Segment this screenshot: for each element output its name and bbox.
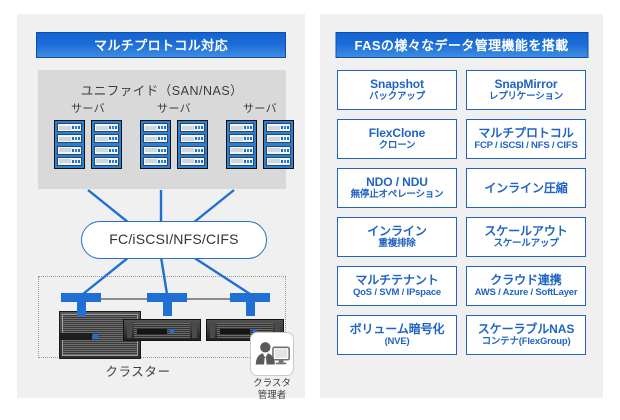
feature-title: クラウド連携 (490, 273, 561, 287)
cluster-admin-caption: クラスタ 管理者 (246, 378, 298, 402)
feature-title: Snapshot (370, 77, 424, 91)
cluster-switch-left (61, 293, 101, 316)
server-rack-icon (177, 120, 208, 169)
admin-person-monitor-icon (250, 332, 294, 376)
right-panel: FASの様々なデータ管理機能を搭載 Snapshot バックアップ SnapMi… (320, 14, 603, 398)
server-rack-icon (263, 120, 294, 169)
protocol-oval: FC/iSCSI/NFS/CIFS (81, 221, 267, 259)
server-rack-pair (223, 120, 297, 169)
unified-label: ユニファイド（SAN/NAS） (38, 80, 286, 99)
cluster-label: クラスター (38, 361, 238, 380)
server-rack-icon (54, 120, 85, 169)
left-panel-header: マルチプロトコル対応 (36, 32, 286, 58)
diagram-root: マルチプロトコル対応 ユニファイド（SAN/NAS） サーバ (0, 0, 620, 420)
feature-subtitle: FCP / iSCSI / NFS / CIFS (474, 140, 577, 152)
server-group-label: サーバ (51, 100, 125, 116)
feature-subtitle: クローン (379, 140, 416, 152)
server-rack-icon (140, 120, 171, 169)
server-group: サーバ (223, 100, 297, 169)
feature-box-cloud-integration[interactable]: クラウド連携 AWS / Azure / SoftLayer (466, 266, 586, 306)
feature-subtitle: (NVE) (385, 336, 410, 348)
feature-box-scale-out-up[interactable]: スケールアウト スケールアップ (466, 217, 586, 257)
server-group: サーバ (137, 100, 211, 169)
feature-subtitle: QoS / SVM / IPspace (353, 287, 441, 299)
feature-box-flexclone[interactable]: FlexClone クローン (337, 119, 457, 159)
server-rack-pair (51, 120, 125, 169)
feature-title: スケールアウト (484, 224, 567, 238)
left-panel: マルチプロトコル対応 ユニファイド（SAN/NAS） サーバ (17, 14, 305, 398)
feature-title: インライン圧縮 (484, 181, 567, 195)
server-group: サーバ (51, 100, 125, 169)
server-rack-icon (91, 120, 122, 169)
feature-title: FlexClone (369, 126, 425, 140)
feature-box-snapmirror[interactable]: SnapMirror レプリケーション (466, 70, 586, 110)
feature-box-ndo-ndu[interactable]: NDO / NDU 無停止オペレーション (337, 168, 457, 208)
feature-box-multitenant[interactable]: マルチテナント QoS / SVM / IPspace (337, 266, 457, 306)
feature-title: スケーラブルNAS (478, 322, 574, 336)
feature-box-inline-dedup[interactable]: インライン 重複排除 (337, 217, 457, 257)
feature-box-inline-compression[interactable]: インライン圧縮 (466, 168, 586, 208)
right-panel-header: FASの様々なデータ管理機能を搭載 (335, 32, 588, 58)
feature-subtitle: 重複排除 (378, 238, 415, 250)
feature-subtitle: レプリケーション (489, 91, 563, 103)
cluster-admin-block: クラスタ 管理者 (246, 332, 298, 402)
feature-title: NDO / NDU (366, 175, 428, 189)
feature-subtitle: スケールアップ (493, 238, 558, 250)
feature-title: マルチプロトコル (478, 126, 573, 140)
feature-box-scalable-nas[interactable]: スケーラブルNAS コンテナ(FlexGroup) (466, 315, 586, 355)
server-rack-icon (226, 120, 257, 169)
feature-box-snapshot[interactable]: Snapshot バックアップ (337, 70, 457, 110)
feature-grid: Snapshot バックアップ SnapMirror レプリケーション Flex… (337, 70, 586, 355)
feature-subtitle: 無停止オペレーション (351, 189, 444, 201)
feature-subtitle: バックアップ (369, 91, 425, 103)
feature-title: マルチテナント (355, 273, 438, 287)
feature-title: ボリューム暗号化 (350, 322, 445, 336)
feature-box-volume-encryption[interactable]: ボリューム暗号化 (NVE) (337, 315, 457, 355)
feature-subtitle: コンテナ(FlexGroup) (482, 336, 571, 348)
storage-node-middle-icon (123, 319, 201, 341)
feature-title: インライン (367, 224, 427, 238)
server-group-label: サーバ (223, 100, 297, 116)
feature-box-multiprotocol[interactable]: マルチプロトコル FCP / iSCSI / NFS / CIFS (466, 119, 586, 159)
cluster-switch-middle (147, 293, 187, 316)
server-group-label: サーバ (137, 100, 211, 116)
feature-subtitle: AWS / Azure / SoftLayer (475, 287, 578, 299)
server-rack-pair (137, 120, 211, 169)
feature-title: SnapMirror (494, 77, 557, 91)
cluster-switch-right (230, 293, 270, 316)
